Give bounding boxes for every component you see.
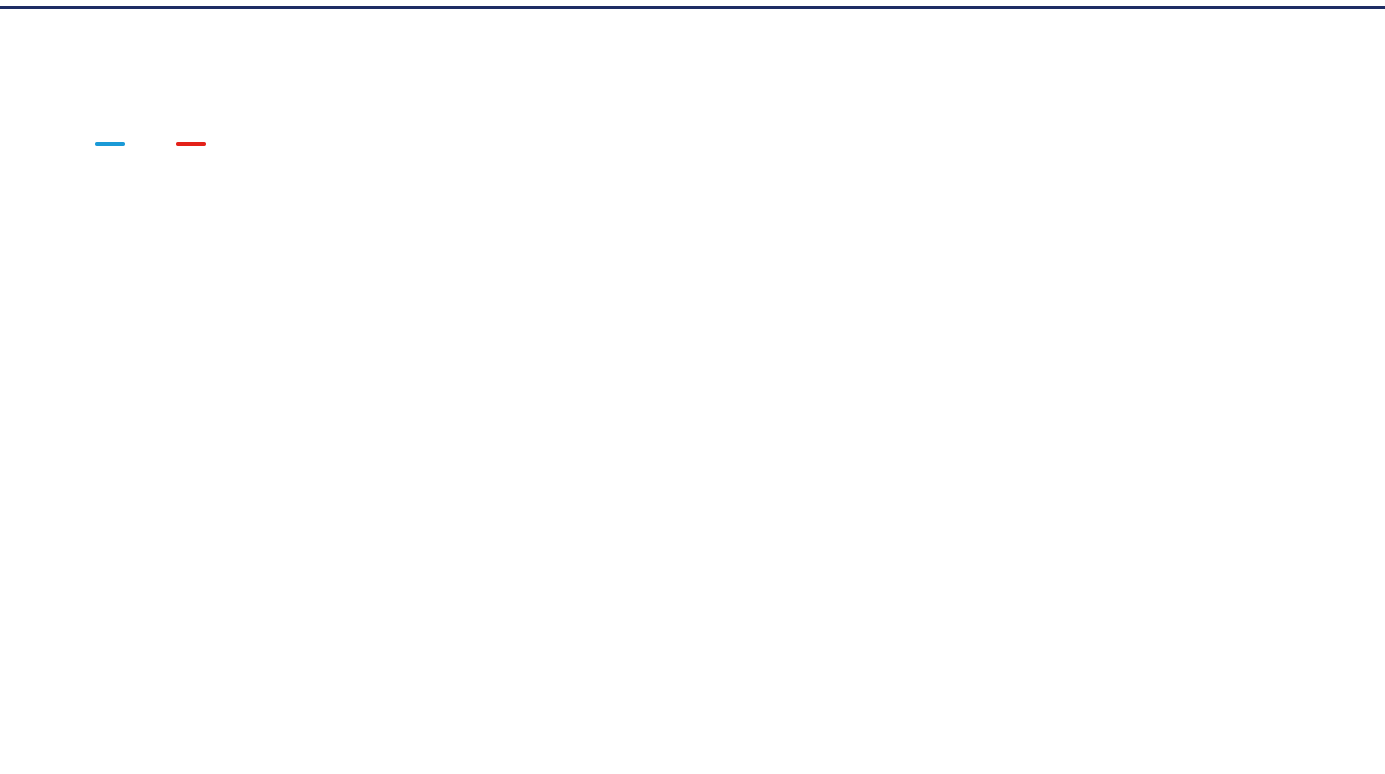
top-rule-divider — [0, 6, 1385, 9]
chart-svg — [0, 178, 1385, 648]
chart-plot-area — [0, 178, 1385, 648]
legend-swatch-us — [176, 142, 206, 146]
legend-item-us[interactable] — [176, 142, 215, 146]
figure-container — [0, 0, 1385, 774]
legend-swatch-uk — [95, 142, 125, 146]
legend-item-uk[interactable] — [95, 142, 134, 146]
chart-legend — [95, 142, 215, 146]
